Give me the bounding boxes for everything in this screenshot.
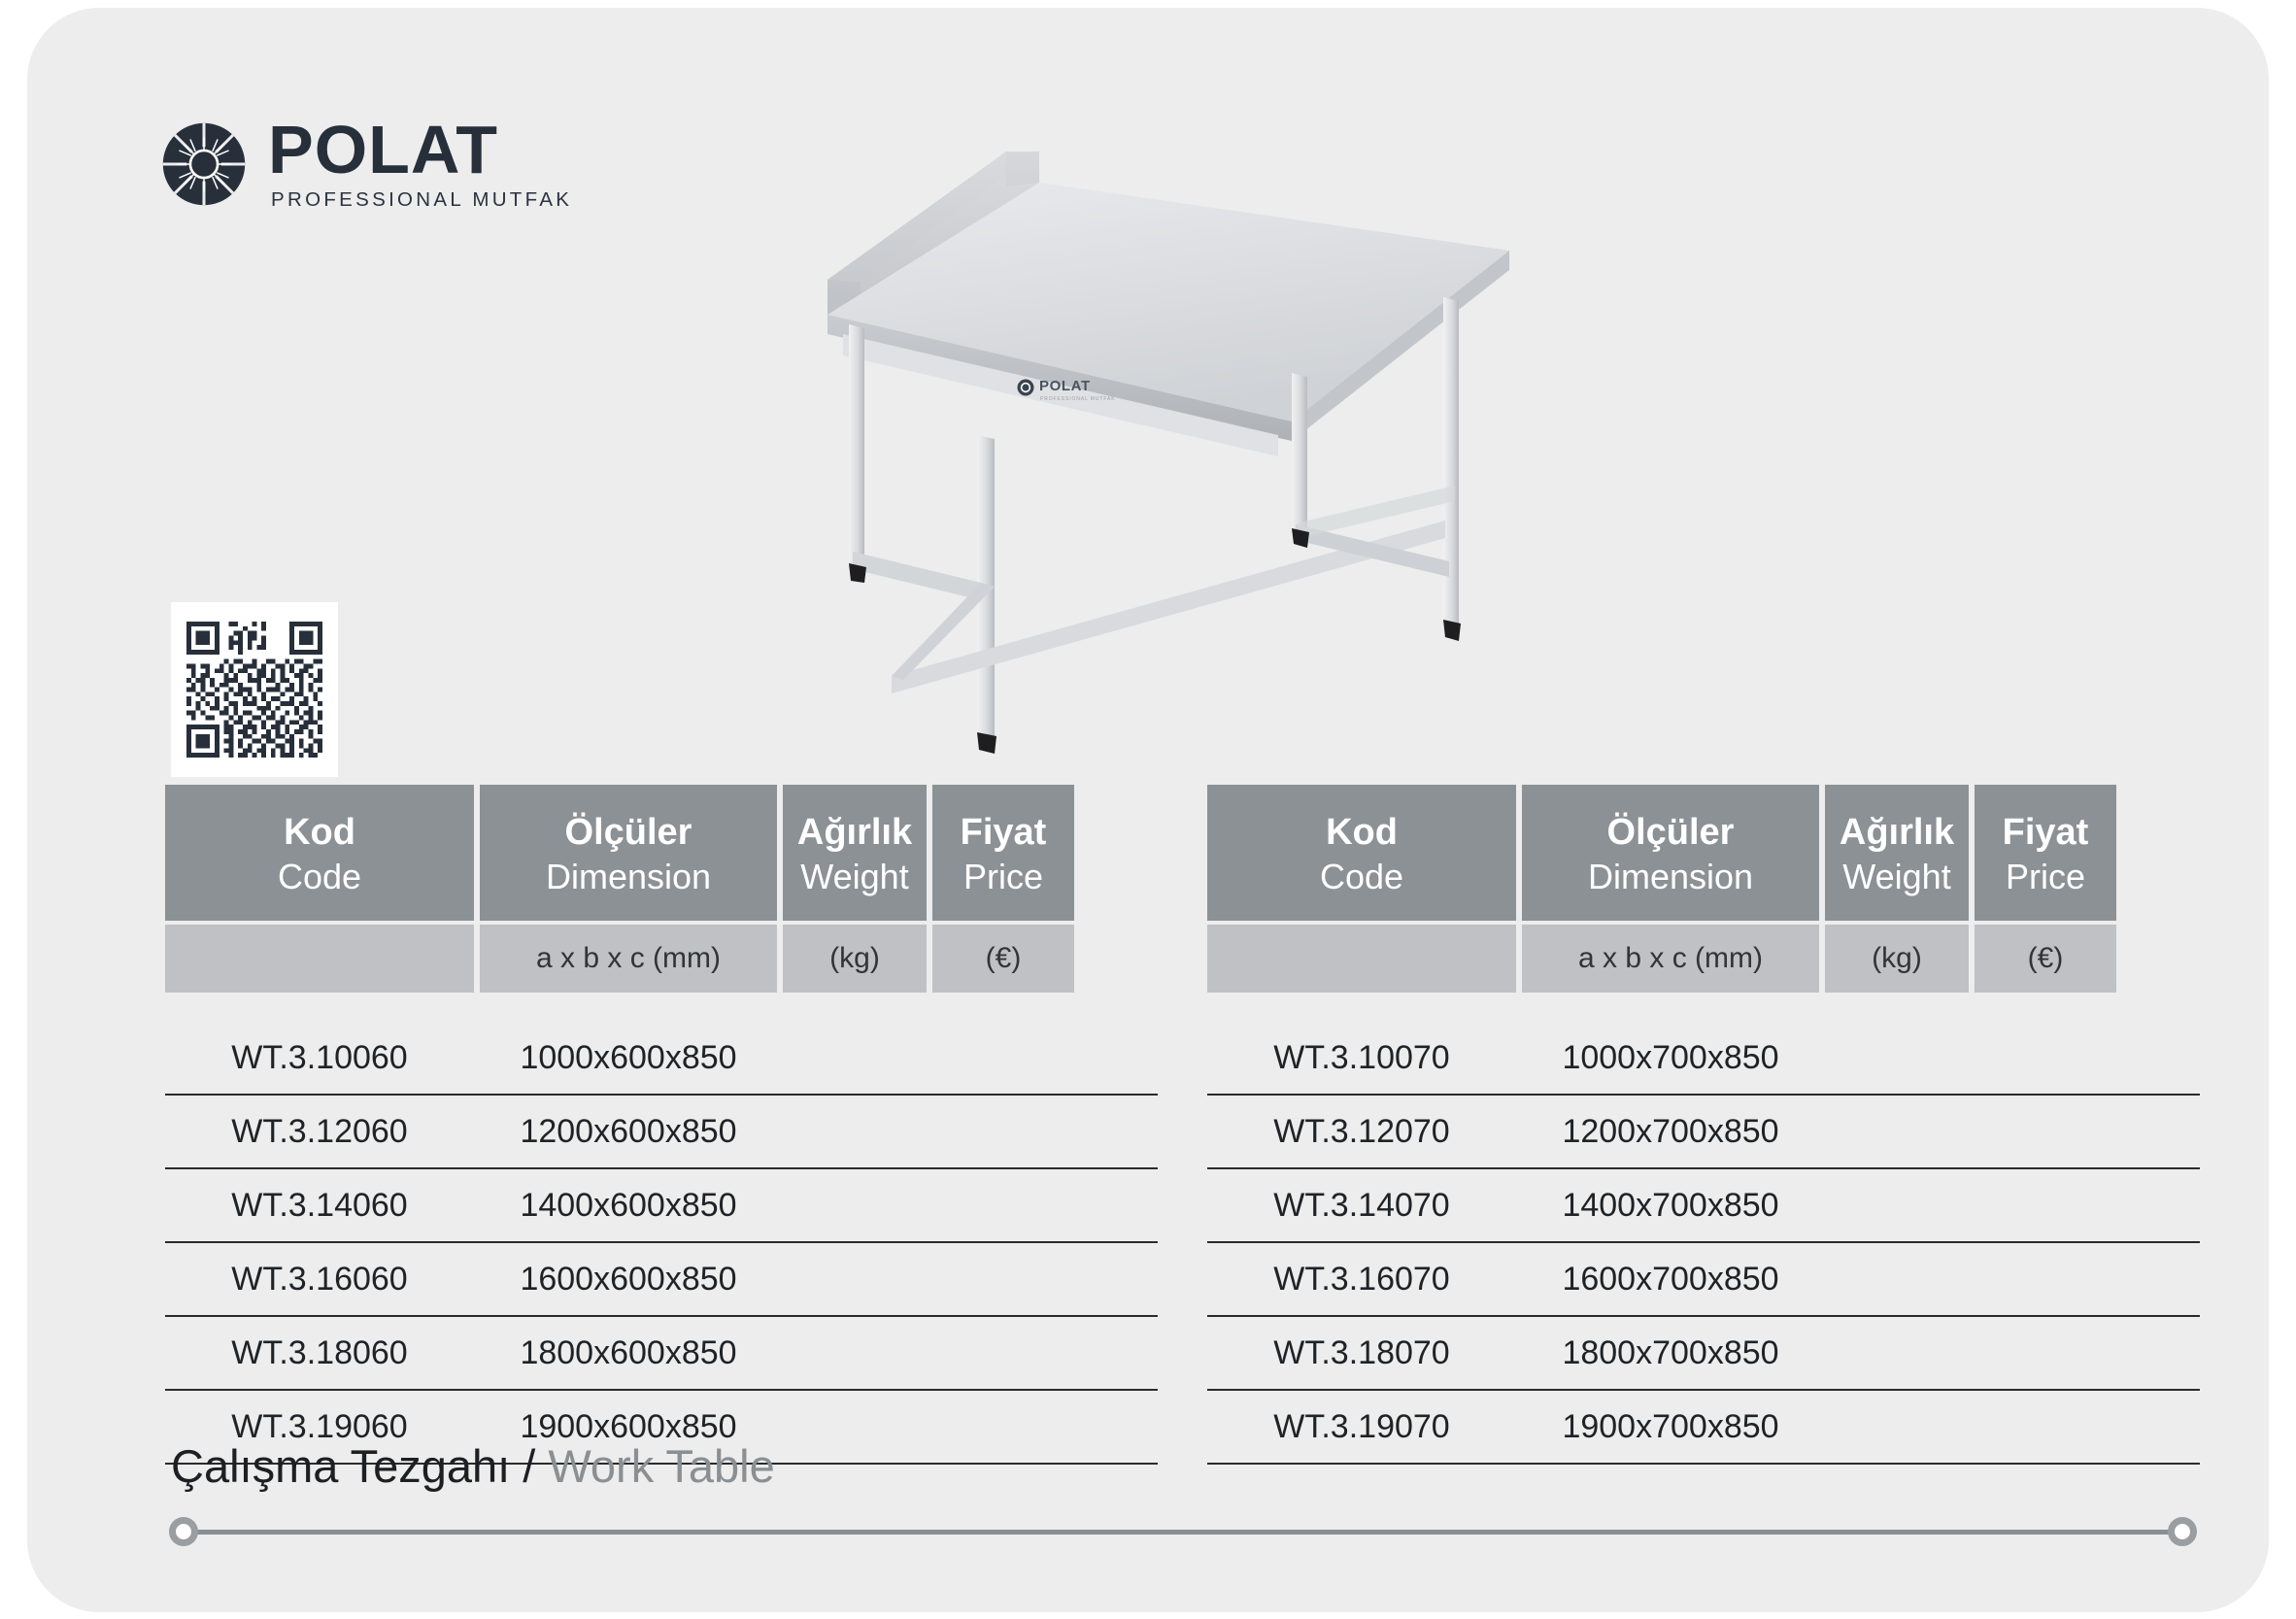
column-unit-label: (€) [986, 942, 1022, 975]
product-title-tr: Çalışma Tezgahı [171, 1440, 510, 1492]
cell-code: WT.3.10060 [165, 1022, 474, 1094]
column-header-tr: Ağırlık [1840, 813, 1954, 852]
table-body: WT.3.100601000x600x850WT.3.120601200x600… [165, 1022, 1158, 1465]
column-unit-weight: (kg) [1825, 925, 1969, 993]
cell-code: WT.3.12070 [1207, 1096, 1516, 1167]
catalog-page: POLAT PROFESSIONAL MUTFAK [27, 8, 2269, 1612]
column-unit-dimension: a x b x c (mm) [1522, 925, 1819, 993]
column-unit-weight: (kg) [783, 925, 927, 993]
table-row[interactable]: WT.3.120601200x600x850 [165, 1096, 1158, 1169]
cell-dimension: 1400x700x850 [1522, 1169, 1819, 1241]
cell-weight [1825, 1243, 1969, 1315]
column-header-code: KodCode [1207, 785, 1516, 921]
column-header-tr: Ölçüler [1607, 813, 1735, 852]
table-header-row: KodCodeÖlçülerDimensionAğırlıkWeightFiya… [1207, 785, 2200, 921]
svg-text:PROFESSIONAL MUTFAK: PROFESSIONAL MUTFAK [1040, 396, 1115, 402]
footer-rule-dot-start [169, 1517, 198, 1546]
brand-tagline: PROFESSIONAL MUTFAK [271, 188, 572, 212]
column-header-price: FiyatPrice [932, 785, 1074, 921]
brand-name: POLAT [268, 117, 572, 184]
title-separator: / [523, 1440, 535, 1492]
column-header-en: Price [2006, 858, 2085, 896]
cell-price [932, 1096, 1074, 1167]
column-header-tr: Fiyat [961, 813, 1047, 852]
cell-price [932, 1243, 1074, 1315]
footer-rule [163, 1511, 2203, 1552]
cell-price [1975, 1317, 2116, 1389]
column-header-tr: Ölçüler [565, 813, 692, 852]
cell-weight [783, 1243, 927, 1315]
column-header-en: Dimension [546, 858, 711, 896]
column-header-tr: Kod [1326, 813, 1398, 852]
product-title-en: Work Table [548, 1440, 774, 1492]
cell-price [932, 1169, 1074, 1241]
cell-code: WT.3.18060 [165, 1317, 474, 1389]
cell-price [1975, 1022, 2116, 1094]
column-unit-code [1207, 925, 1516, 993]
cell-weight [783, 1169, 927, 1241]
column-header-en: Price [963, 858, 1043, 896]
cell-dimension: 1200x700x850 [1522, 1096, 1819, 1167]
column-header-dimension: ÖlçülerDimension [480, 785, 777, 921]
table-row[interactable]: WT.3.120701200x700x850 [1207, 1096, 2200, 1169]
table-header-row: KodCodeÖlçülerDimensionAğırlıkWeightFiya… [165, 785, 1158, 921]
cell-weight [783, 1022, 927, 1094]
column-unit-label: (kg) [829, 942, 880, 975]
cell-dimension: 1200x600x850 [480, 1096, 777, 1167]
table-row[interactable]: WT.3.100701000x700x850 [1207, 1022, 2200, 1096]
cell-dimension: 1800x600x850 [480, 1317, 777, 1389]
table-body: WT.3.100701000x700x850WT.3.120701200x700… [1207, 1022, 2200, 1465]
column-header-en: Weight [1842, 858, 1950, 896]
table-row[interactable]: WT.3.160601600x600x850 [165, 1243, 1158, 1317]
spec-table-right: KodCodeÖlçülerDimensionAğırlıkWeightFiya… [1207, 785, 2200, 1465]
cell-dimension: 1400x600x850 [480, 1169, 777, 1241]
cell-weight [783, 1317, 927, 1389]
cell-weight [1825, 1096, 1969, 1167]
cell-code: WT.3.16070 [1207, 1243, 1516, 1315]
footer-rule-dot-end [2168, 1517, 2197, 1546]
column-unit-dimension: a x b x c (mm) [480, 925, 777, 993]
table-row[interactable]: WT.3.140701400x700x850 [1207, 1169, 2200, 1243]
cell-price [932, 1022, 1074, 1094]
column-header-tr: Kod [284, 813, 355, 852]
table-row[interactable]: WT.3.160701600x700x850 [1207, 1243, 2200, 1317]
column-header-price: FiyatPrice [1975, 785, 2116, 921]
cell-weight [1825, 1169, 1969, 1241]
column-unit-price: (€) [932, 925, 1074, 993]
column-header-tr: Ağırlık [797, 813, 912, 852]
cell-price [1975, 1096, 2116, 1167]
column-header-weight: AğırlıkWeight [1825, 785, 1969, 921]
cell-dimension: 1600x700x850 [1522, 1243, 1819, 1315]
column-header-weight: AğırlıkWeight [783, 785, 927, 921]
cell-price [1975, 1243, 2116, 1315]
cell-code: WT.3.18070 [1207, 1317, 1516, 1389]
spec-table-left: KodCodeÖlçülerDimensionAğırlıkWeightFiya… [165, 785, 1158, 1465]
column-header-tr: Fiyat [2003, 813, 2089, 852]
table-row[interactable]: WT.3.100601000x600x850 [165, 1022, 1158, 1096]
cell-dimension: 1000x700x850 [1522, 1022, 1819, 1094]
table-row[interactable]: WT.3.180701800x700x850 [1207, 1317, 2200, 1391]
column-header-en: Dimension [1588, 858, 1753, 896]
column-unit-price: (€) [1975, 925, 2116, 993]
column-unit-label: (€) [2028, 942, 2064, 975]
column-header-en: Code [278, 858, 361, 896]
stainless-steel-work-table-image: POLAT PROFESSIONAL MUTFAK [814, 144, 1581, 765]
column-header-dimension: ÖlçülerDimension [1522, 785, 1819, 921]
cell-weight [1825, 1022, 1969, 1094]
column-unit-label: (kg) [1872, 942, 1922, 975]
page-title: Çalışma Tezgahı / Work Table [171, 1443, 2191, 1489]
footer-rule-line [186, 1530, 2181, 1535]
product-title-block: Çalışma Tezgahı / Work Table [171, 1443, 2191, 1489]
cell-code: WT.3.14070 [1207, 1169, 1516, 1241]
cell-dimension: 1600x600x850 [480, 1243, 777, 1315]
cell-dimension: 1000x600x850 [480, 1022, 777, 1094]
cell-dimension: 1800x700x850 [1522, 1317, 1819, 1389]
cell-price [932, 1317, 1074, 1389]
cell-code: WT.3.16060 [165, 1243, 474, 1315]
column-header-en: Code [1320, 858, 1403, 896]
cell-code: WT.3.14060 [165, 1169, 474, 1241]
column-header-code: KodCode [165, 785, 474, 921]
cell-price [1975, 1169, 2116, 1241]
qr-code-icon[interactable] [171, 602, 338, 777]
table-row[interactable]: WT.3.140601400x600x850 [165, 1169, 1158, 1243]
column-unit-label: a x b x c (mm) [1578, 942, 1763, 975]
column-header-en: Weight [800, 858, 908, 896]
brand-logo: POLAT PROFESSIONAL MUTFAK [161, 117, 572, 212]
cell-code: WT.3.12060 [165, 1096, 474, 1167]
svg-text:POLAT: POLAT [1039, 378, 1091, 394]
table-row[interactable]: WT.3.180601800x600x850 [165, 1317, 1158, 1391]
table-unit-row: a x b x c (mm)(kg)(€) [1207, 925, 2200, 993]
table-unit-row: a x b x c (mm)(kg)(€) [165, 925, 1158, 993]
column-unit-code [165, 925, 474, 993]
column-unit-label: a x b x c (mm) [536, 942, 721, 975]
polat-gear-emblem-icon [161, 121, 247, 207]
cell-code: WT.3.10070 [1207, 1022, 1516, 1094]
cell-weight [783, 1096, 927, 1167]
cell-weight [1825, 1317, 1969, 1389]
